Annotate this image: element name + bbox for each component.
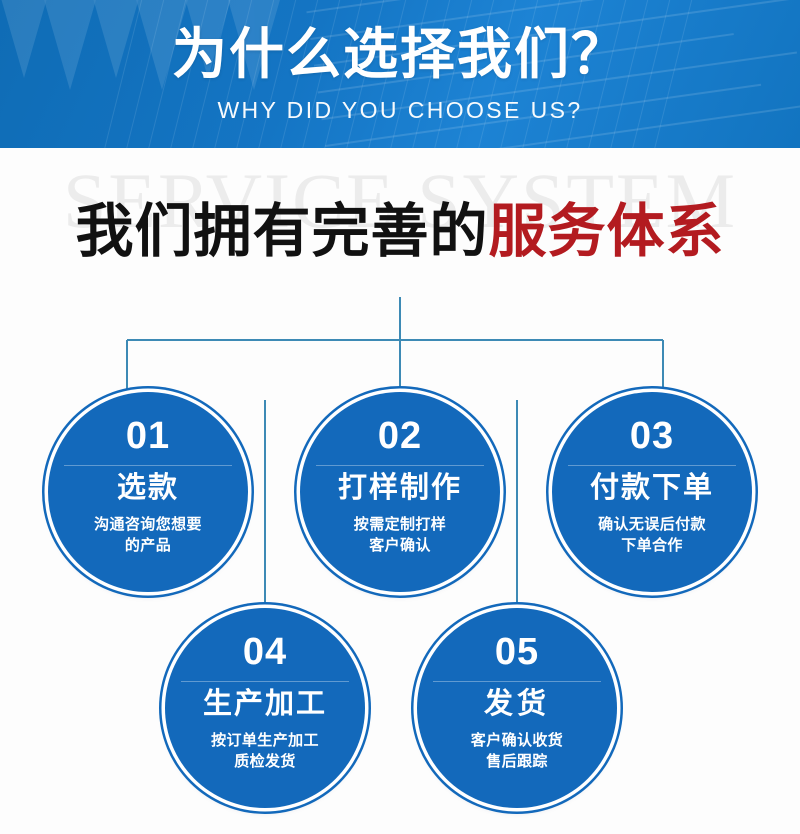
flow-node-3-desc-line1: 确认无误后付款 bbox=[560, 515, 744, 536]
flow-node-3-number: 03 bbox=[552, 417, 752, 455]
flow-node-5-number: 05 bbox=[417, 633, 617, 671]
banner-subtitle: WHY DID YOU CHOOSE US? bbox=[0, 82, 800, 122]
page-title-black: 我们拥有完善的 bbox=[75, 199, 488, 264]
flow-node-3-desc-line2: 下单合作 bbox=[560, 536, 744, 557]
page-title-red: 服务体系 bbox=[489, 199, 725, 264]
flow-node-2[interactable]: 02 打样制作 按需定制打样 客户确认 bbox=[300, 392, 500, 592]
flow-node-3[interactable]: 03 付款下单 确认无误后付款 下单合作 bbox=[552, 392, 752, 592]
flow-node-4-desc-line1: 按订单生产加工 bbox=[173, 731, 357, 752]
flow-node-2-desc-line2: 客户确认 bbox=[308, 536, 492, 557]
flow-node-1-desc-line2: 的产品 bbox=[56, 536, 240, 557]
flow-node-3-title: 付款下单 bbox=[552, 474, 752, 503]
flow-node-4[interactable]: 04 生产加工 按订单生产加工 质检发货 bbox=[165, 608, 365, 808]
flow-node-5-desc: 客户确认收货 售后跟踪 bbox=[425, 731, 609, 772]
flow-node-2-desc: 按需定制打样 客户确认 bbox=[308, 515, 492, 556]
page-root: 为什么选择我们？ WHY DID YOU CHOOSE US? SERVICE … bbox=[0, 0, 800, 834]
flow-node-4-desc: 按订单生产加工 质检发货 bbox=[173, 731, 357, 772]
section-heading-block: SERVICE SYSTEM 我们拥有完善的服务体系 bbox=[0, 148, 800, 298]
flow-node-4-number: 04 bbox=[165, 633, 365, 671]
banner-text-block: 为什么选择我们？ WHY DID YOU CHOOSE US? bbox=[0, 0, 800, 122]
header-banner: 为什么选择我们？ WHY DID YOU CHOOSE US? bbox=[0, 0, 800, 148]
flow-node-1-desc-line1: 沟通咨询您想要 bbox=[56, 515, 240, 536]
flow-node-1-number: 01 bbox=[48, 417, 248, 455]
flow-node-5-divider bbox=[433, 681, 601, 682]
flow-node-3-divider bbox=[568, 465, 736, 466]
flow-node-5-desc-line1: 客户确认收货 bbox=[425, 731, 609, 752]
flow-node-3-desc: 确认无误后付款 下单合作 bbox=[560, 515, 744, 556]
flow-node-4-title: 生产加工 bbox=[165, 690, 365, 719]
flow-node-4-divider bbox=[181, 681, 349, 682]
flow-node-2-title: 打样制作 bbox=[300, 474, 500, 503]
banner-title: 为什么选择我们？ bbox=[0, 0, 800, 82]
flow-node-5-title: 发货 bbox=[417, 690, 617, 719]
flow-node-2-number: 02 bbox=[300, 417, 500, 455]
flow-node-2-divider bbox=[316, 465, 484, 466]
flow-node-4-desc-line2: 质检发货 bbox=[173, 752, 357, 773]
flow-node-2-desc-line1: 按需定制打样 bbox=[308, 515, 492, 536]
flow-node-5-desc-line2: 售后跟踪 bbox=[425, 752, 609, 773]
flow-node-1-divider bbox=[64, 465, 232, 466]
flow-node-5[interactable]: 05 发货 客户确认收货 售后跟踪 bbox=[417, 608, 617, 808]
flow-node-1-title: 选款 bbox=[48, 474, 248, 503]
page-title: 我们拥有完善的服务体系 bbox=[0, 202, 800, 263]
flow-node-1[interactable]: 01 选款 沟通咨询您想要 的产品 bbox=[48, 392, 248, 592]
flow-node-1-desc: 沟通咨询您想要 的产品 bbox=[56, 515, 240, 556]
